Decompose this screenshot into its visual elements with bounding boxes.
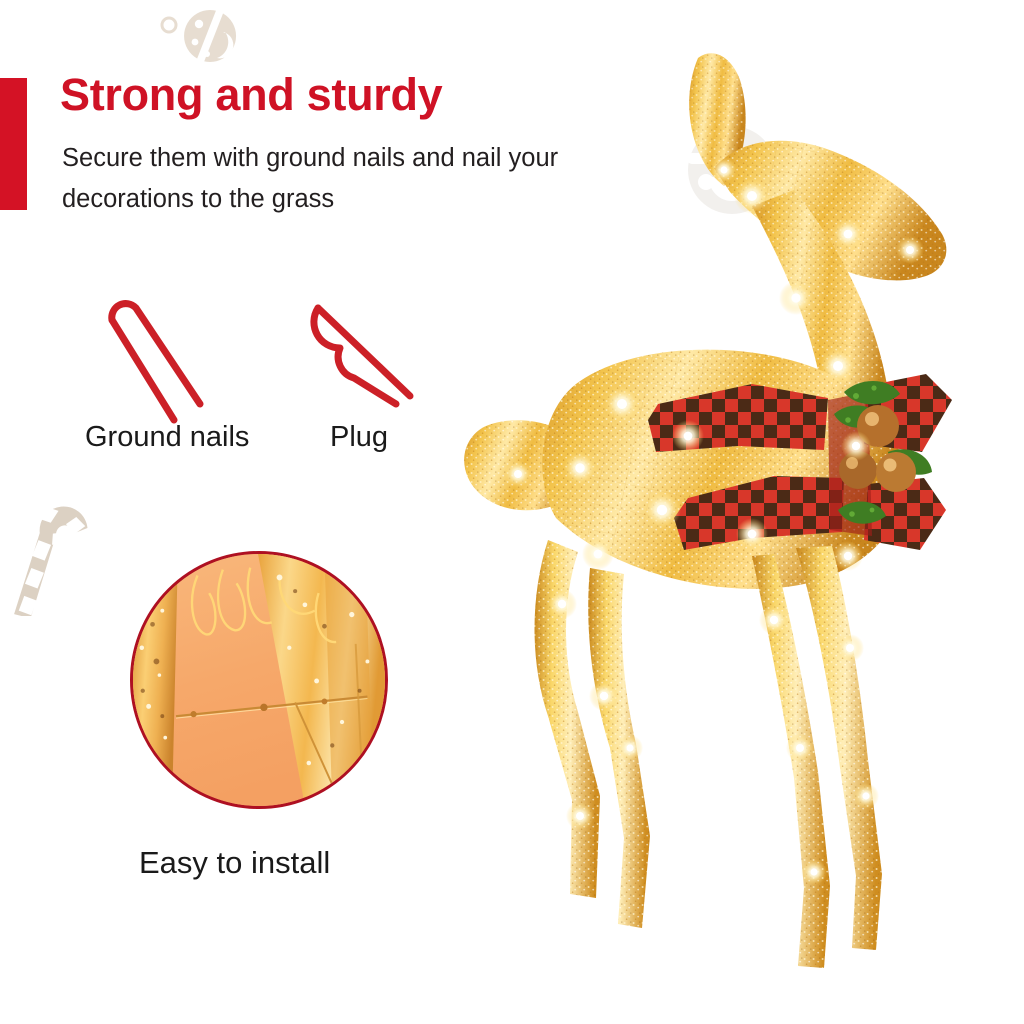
power-plug-cord-icon bbox=[288, 292, 428, 432]
feature-label-plug: Plug bbox=[330, 421, 388, 454]
magnified-detail-circle bbox=[130, 551, 388, 809]
candy-cane-watermark-icon bbox=[0, 492, 106, 616]
feature-label-ground-nails: Ground nails bbox=[85, 421, 249, 454]
infographic-canvas: Strong and sturdy Secure them with groun… bbox=[0, 0, 1024, 1024]
callout-label: Easy to install bbox=[139, 845, 330, 881]
christmas-bauble-watermark-icon bbox=[155, 2, 245, 74]
product-image-lighted-deer bbox=[452, 48, 1024, 1008]
accent-bar bbox=[0, 78, 27, 210]
deer-legs bbox=[535, 540, 883, 968]
glitter-mesh-closeup bbox=[133, 554, 385, 806]
ground-nail-stake-icon bbox=[96, 292, 246, 432]
